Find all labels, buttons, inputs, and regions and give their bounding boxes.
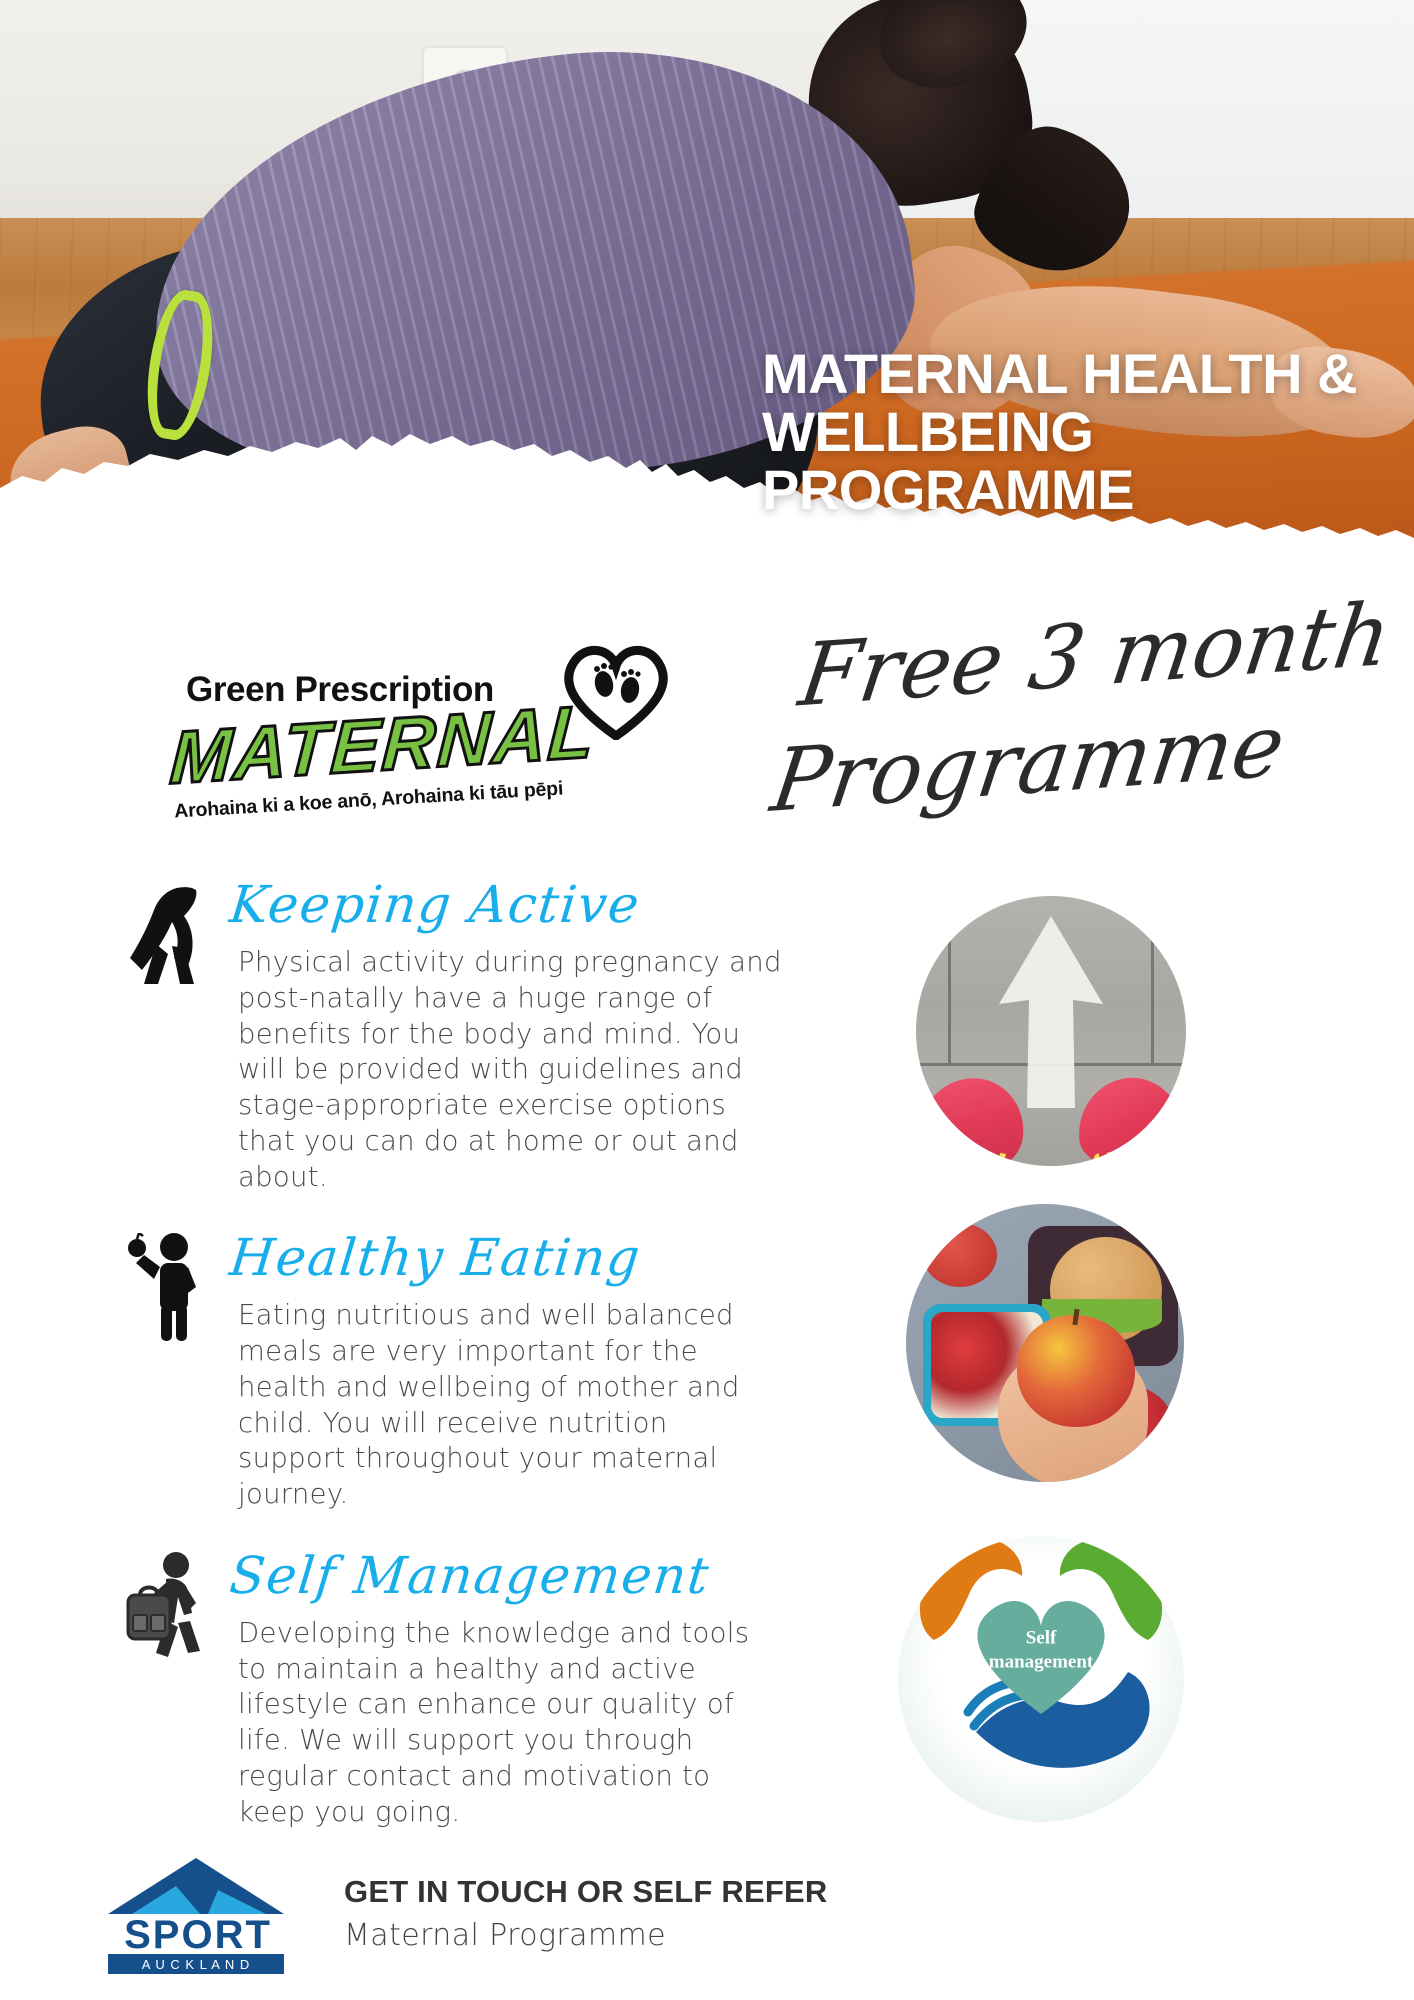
- footer: SPORT A U C K L A N D GET IN TOUCH OR SE…: [0, 1850, 1414, 2000]
- sport-wordmark: SPORT: [124, 1913, 272, 1957]
- green-prescription-maternal-logo: Green Prescription MATERNAL Arohaina ki …: [168, 648, 638, 828]
- photo-healthy-lunchbox: [906, 1204, 1184, 1482]
- feature-self-management: Self Management Developing the knowledge…: [0, 1551, 800, 1831]
- feature-title-keeping-active: Keeping Active: [227, 880, 802, 931]
- feature-healthy-eating: Healthy Eating Eating nutritious and wel…: [0, 1233, 800, 1513]
- heart-with-baby-footprints-icon: [560, 640, 672, 740]
- apple: [1017, 1315, 1135, 1427]
- person-holding-apple-icon: [122, 1233, 214, 1345]
- footer-subheading: Maternal Programme: [344, 1918, 827, 1953]
- feature-keeping-active: Keeping Active Physical activity during …: [0, 880, 800, 1195]
- feature-title-healthy-eating: Healthy Eating: [227, 1233, 802, 1284]
- sm-label-line-1: Self: [956, 1627, 1126, 1651]
- sport-auckland-logo: SPORT A U C K L A N D: [88, 1856, 308, 1974]
- page-title-line-3: PROGRAMME: [762, 461, 1382, 519]
- person-walking-with-backpack-icon: [122, 1551, 214, 1663]
- auckland-wordmark: A U C K L A N D: [142, 1957, 250, 1972]
- headline-line-1: Free 3 month: [792, 583, 1397, 726]
- sm-label-line-2: management: [956, 1650, 1126, 1674]
- chalk-arrow-icon: [991, 912, 1111, 1112]
- feature-title-self-management: Self Management: [227, 1551, 802, 1602]
- hero-section: MATERNAL HEALTH & WELLBEING PROGRAMME: [0, 0, 1414, 600]
- mountain-shape: [108, 1858, 284, 1914]
- poster-root: MATERNAL HEALTH & WELLBEING PROGRAMME Gr…: [0, 0, 1414, 2000]
- pavement-seam: [1151, 896, 1154, 1063]
- page-title: MATERNAL HEALTH & WELLBEING PROGRAMME: [762, 345, 1382, 520]
- free-3-month-programme-headline: Free 3 month Programme: [810, 612, 1370, 832]
- footer-text-block: GET IN TOUCH OR SELF REFER Maternal Prog…: [344, 1874, 827, 1953]
- feature-body-self-management: Developing the knowledge and tools to ma…: [238, 1616, 783, 1831]
- feature-body-healthy-eating: Eating nutritious and well balanced meal…: [238, 1298, 783, 1513]
- pavement-seam: [948, 896, 951, 1063]
- lunchbox-background: [906, 1204, 1184, 1482]
- self-management-label: Self management: [956, 1627, 1126, 1675]
- footer-heading: GET IN TOUCH OR SELF REFER: [344, 1874, 827, 1910]
- page-title-line-2: WELLBEING: [762, 403, 1382, 461]
- person-stretching-icon: [122, 880, 214, 992]
- pavement-background: [916, 896, 1186, 1166]
- tomato-slice: [923, 1223, 997, 1287]
- page-title-line-1: MATERNAL HEALTH &: [762, 345, 1382, 403]
- features-list: Keeping Active Physical activity during …: [0, 880, 800, 1874]
- photo-self-management-graphic: Self management: [898, 1536, 1184, 1822]
- photo-running-shoes-arrow: [916, 896, 1186, 1166]
- feature-body-keeping-active: Physical activity during pregnancy and p…: [238, 945, 783, 1195]
- self-management-illustration: Self management: [898, 1536, 1184, 1822]
